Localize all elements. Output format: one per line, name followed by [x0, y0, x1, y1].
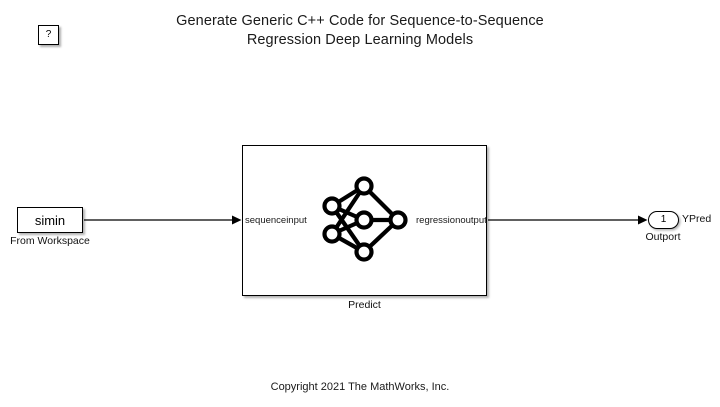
model-title: Generate Generic C++ Code for Sequence-t… — [0, 12, 720, 50]
from-workspace-variable: simin — [35, 214, 65, 227]
outport-port-number: 1 — [661, 215, 667, 225]
arrowhead-predict-input — [232, 216, 242, 225]
neural-network-icon — [318, 176, 412, 264]
simulink-model-canvas: ? Generate Generic C++ Code for Sequence… — [0, 0, 720, 407]
port-label-sequenceinput: sequenceinput — [245, 216, 307, 226]
arrowhead-outport-input — [638, 216, 648, 225]
block-outport[interactable]: 1 — [648, 211, 679, 229]
port-label-regressionoutput: regressionoutput — [416, 216, 487, 226]
outport-signal-name: YPred — [682, 214, 711, 225]
model-title-line-1: Generate Generic C++ Code for Sequence-t… — [0, 12, 720, 31]
block-label-from-workspace: From Workspace — [0, 235, 100, 247]
copyright-text: Copyright 2021 The MathWorks, Inc. — [0, 381, 720, 394]
model-title-line-2: Regression Deep Learning Models — [0, 31, 720, 50]
block-from-workspace[interactable]: simin — [17, 207, 83, 233]
block-label-predict: Predict — [242, 299, 487, 311]
block-label-outport: Outport — [622, 231, 704, 243]
